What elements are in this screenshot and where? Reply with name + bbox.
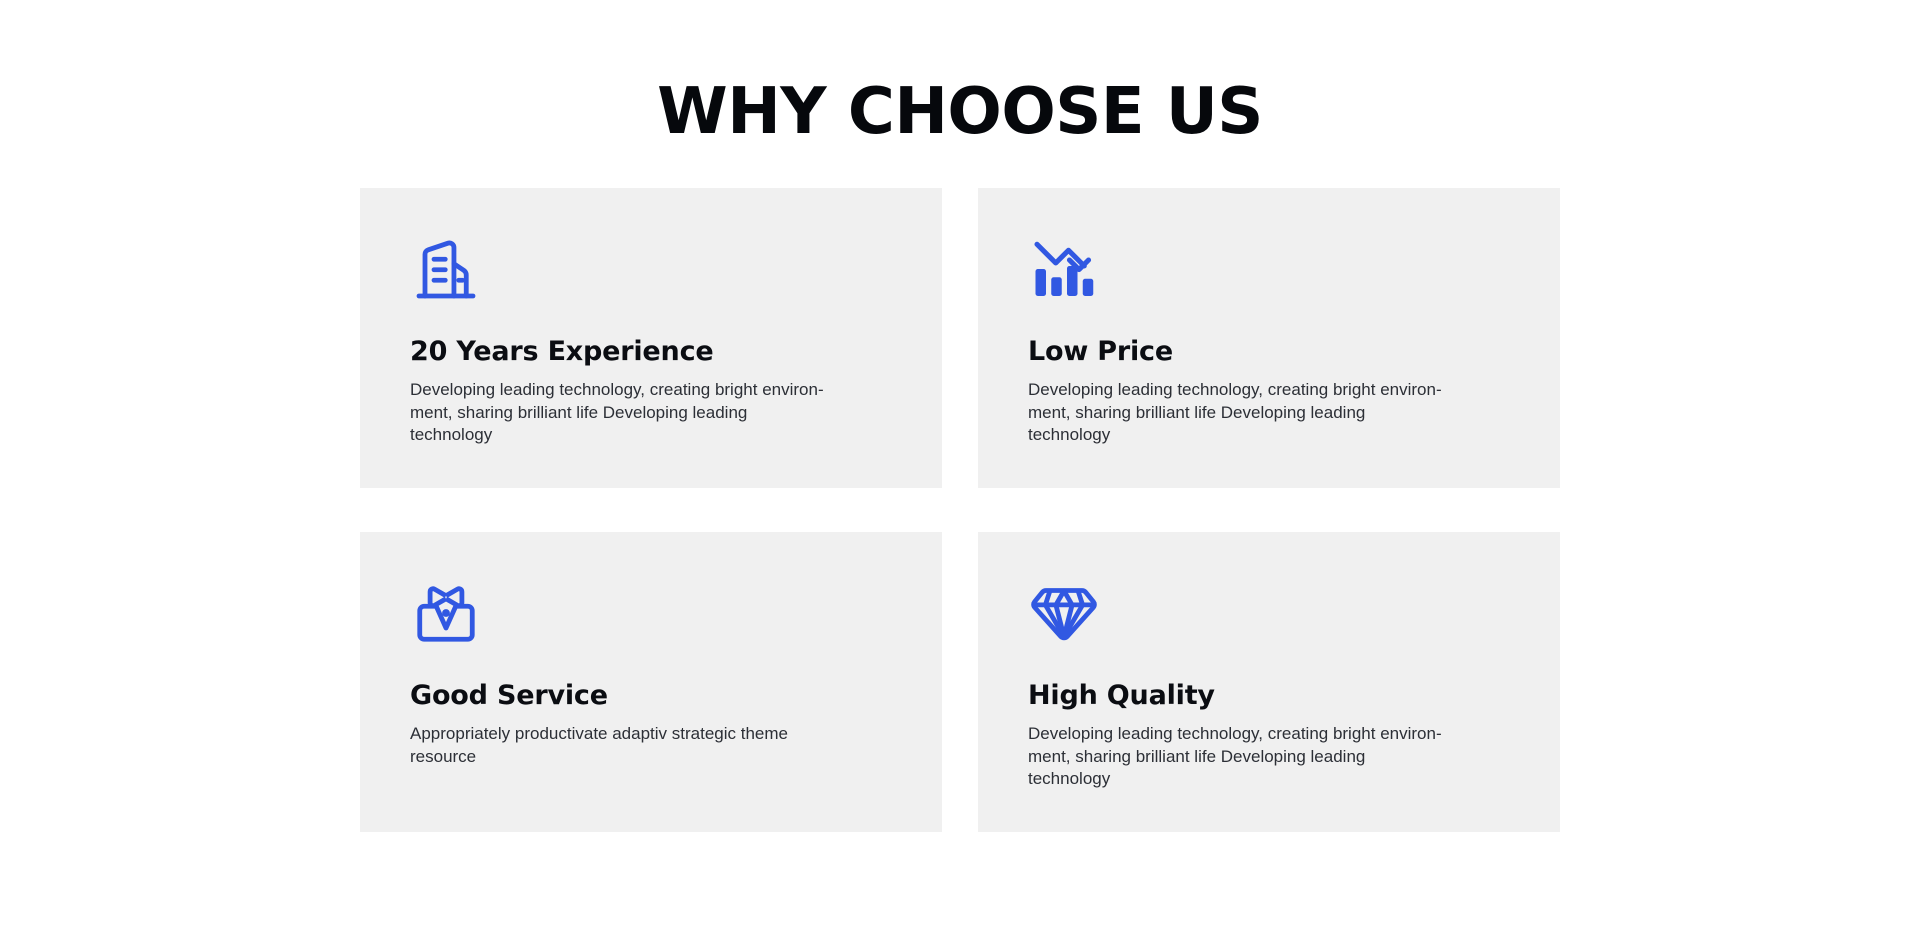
bow-tie-suit-icon xyxy=(410,577,482,649)
feature-card-text: Appropriately productivate adaptiv strat… xyxy=(410,723,825,768)
feature-card-title: 20 Years Experience xyxy=(410,335,892,369)
page-title: WHY CHOOSE US xyxy=(0,76,1920,148)
feature-card-title: Low Price xyxy=(1028,335,1510,369)
declining-bar-chart-icon xyxy=(1028,233,1100,305)
feature-card-good-service: Good Service Appropriately productivate … xyxy=(360,532,942,832)
office-building-icon xyxy=(410,233,482,305)
feature-card-experience: 20 Years Experience Developing leading t… xyxy=(360,188,942,488)
feature-card-text: Developing leading technology, creating … xyxy=(1028,379,1443,447)
feature-card-text: Developing leading technology, creating … xyxy=(1028,723,1443,791)
feature-card-grid: 20 Years Experience Developing leading t… xyxy=(360,188,1560,832)
diamond-gem-icon xyxy=(1028,577,1100,649)
why-choose-us-section: WHY CHOOSE US 20 Years Experience Develo… xyxy=(0,0,1920,930)
feature-card-high-quality: High Quality Developing leading technolo… xyxy=(978,532,1560,832)
feature-card-low-price: Low Price Developing leading technology,… xyxy=(978,188,1560,488)
feature-card-text: Developing leading technology, creating … xyxy=(410,379,825,447)
feature-card-title: Good Service xyxy=(410,679,892,713)
feature-card-title: High Quality xyxy=(1028,679,1510,713)
